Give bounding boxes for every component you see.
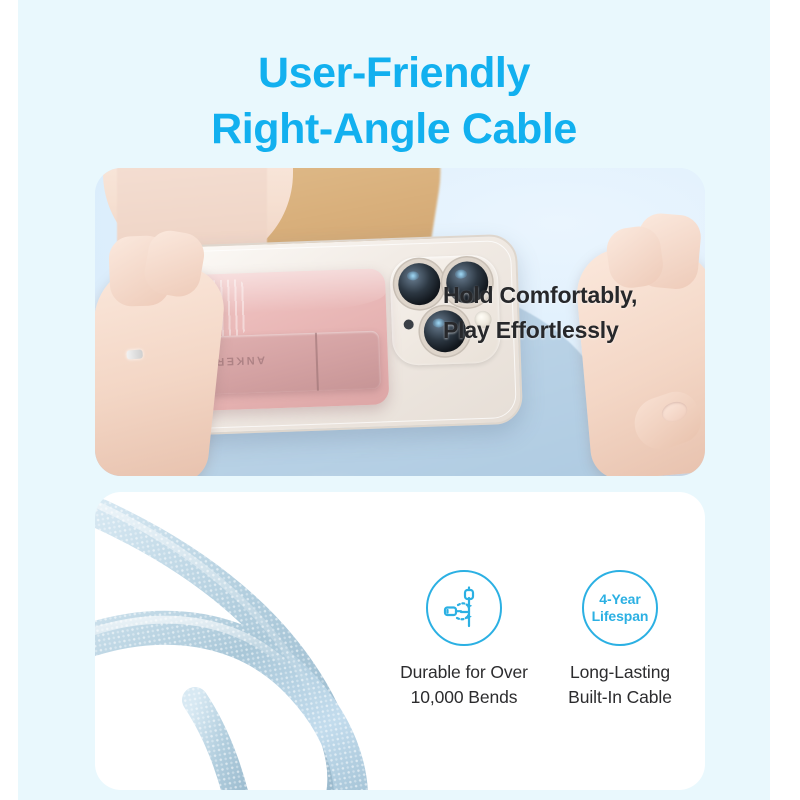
cable-feature-card: Durable for Over 10,000 Bends 4-Year Lif… (95, 492, 705, 790)
lifespan-badge-text: 4-Year Lifespan (592, 591, 649, 625)
feature-caption-line-2: Built-In Cable (568, 685, 672, 710)
feature-item-bends: Durable for Over 10,000 Bends (395, 570, 533, 710)
feature-caption-line-1: Long-Lasting (568, 660, 672, 685)
page-title-line-2: Right-Angle Cable (18, 102, 770, 158)
hoodie-fold (208, 470, 466, 476)
page-title: User-Friendly Right-Angle Cable (18, 46, 770, 158)
kickstand-seam (315, 333, 319, 391)
anker-brand-logo: ANKER (214, 354, 266, 368)
feature-caption: Durable for Over 10,000 Bends (400, 660, 528, 710)
feature-list: Durable for Over 10,000 Bends 4-Year Lif… (395, 570, 695, 710)
page-title-line-1: User-Friendly (18, 46, 770, 102)
photo-overlay-line-1: Hold Comfortably, (443, 278, 637, 313)
bend-glyph (441, 585, 487, 631)
product-marketing-page: User-Friendly Right-Angle Cable (0, 0, 800, 800)
content-canvas: User-Friendly Right-Angle Cable (18, 0, 770, 800)
camera-lens (398, 262, 441, 305)
photo-overlay-text: Hold Comfortably, Play Effortlessly (443, 278, 637, 347)
ring (126, 349, 143, 359)
right-hand (573, 240, 705, 476)
hero-photo-card: ANKER Hold Comfortabl (95, 168, 705, 476)
lifespan-badge-line-1: 4-Year (592, 591, 649, 608)
lidar-sensor (404, 319, 414, 329)
feature-item-lifespan: 4-Year Lifespan Long-Lasting Built-In Ca… (551, 570, 689, 710)
left-hand (95, 258, 228, 476)
feature-caption-line-1: Durable for Over (400, 660, 528, 685)
lens-glint (407, 271, 419, 280)
feature-caption: Long-Lasting Built-In Cable (568, 660, 672, 710)
lifespan-badge-icon: 4-Year Lifespan (582, 570, 658, 646)
photo-overlay-line-2: Play Effortlessly (443, 313, 637, 348)
feature-caption-line-2: 10,000 Bends (400, 685, 528, 710)
right-angle-cable-bend-icon (426, 570, 502, 646)
lifespan-badge-line-2: Lifespan (592, 608, 649, 625)
